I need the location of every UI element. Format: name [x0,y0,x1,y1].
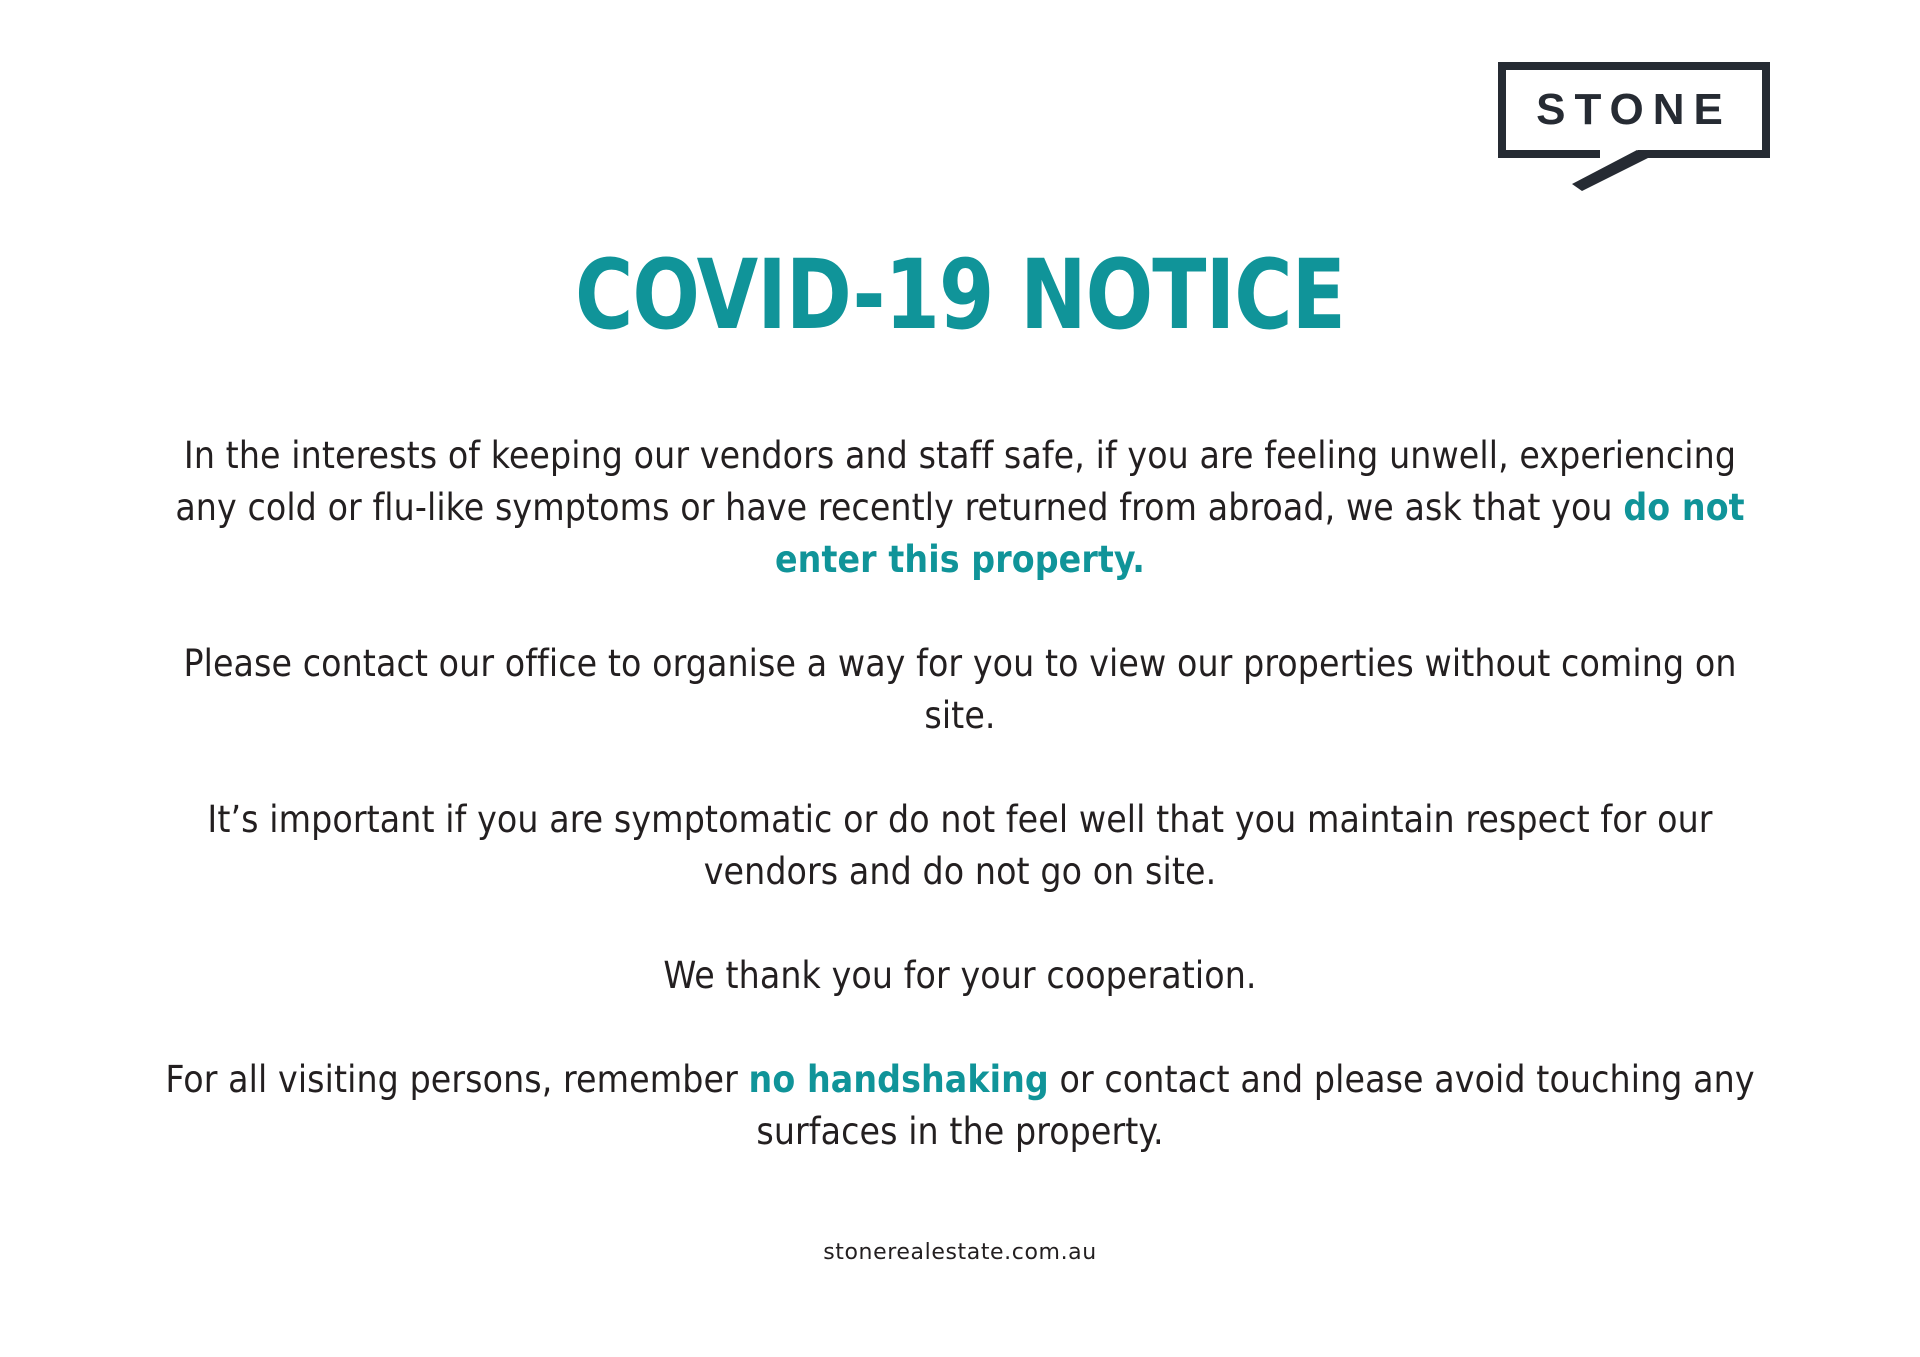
paragraph-handshaking-highlight: no handshaking [749,1058,1049,1101]
covid-notice-page: STONE COVID-19 NOTICE In the interests o… [0,0,1920,1357]
paragraph-respect: It’s important if you are symptomatic or… [150,794,1770,950]
paragraph-handshaking: For all visiting persons, remember no ha… [150,1054,1770,1158]
paragraph-contact-office: Please contact our office to organise a … [150,638,1770,794]
footer-website-url: stonerealestate.com.au [0,1240,1920,1265]
paragraph-handshaking-lead: For all visiting persons, remember [165,1058,748,1101]
paragraph-thanks: We thank you for your cooperation. [150,950,1770,1054]
paragraph-thanks-lead: We thank you for your cooperation. [663,954,1256,997]
page-title: COVID-19 NOTICE [77,247,1843,343]
stone-logo-wordmark: STONE [1536,85,1732,134]
paragraph-contact-office-lead: Please contact our office to organise a … [183,642,1736,737]
paragraph-unwell: In the interests of keeping our vendors … [150,430,1770,638]
paragraph-respect-lead: It’s important if you are symptomatic or… [207,798,1712,893]
paragraph-unwell-lead: In the interests of keeping our vendors … [175,434,1736,529]
stone-logo: STONE [1498,62,1798,192]
notice-body: In the interests of keeping our vendors … [0,430,1920,1158]
stone-logo-icon: STONE [1498,62,1798,192]
